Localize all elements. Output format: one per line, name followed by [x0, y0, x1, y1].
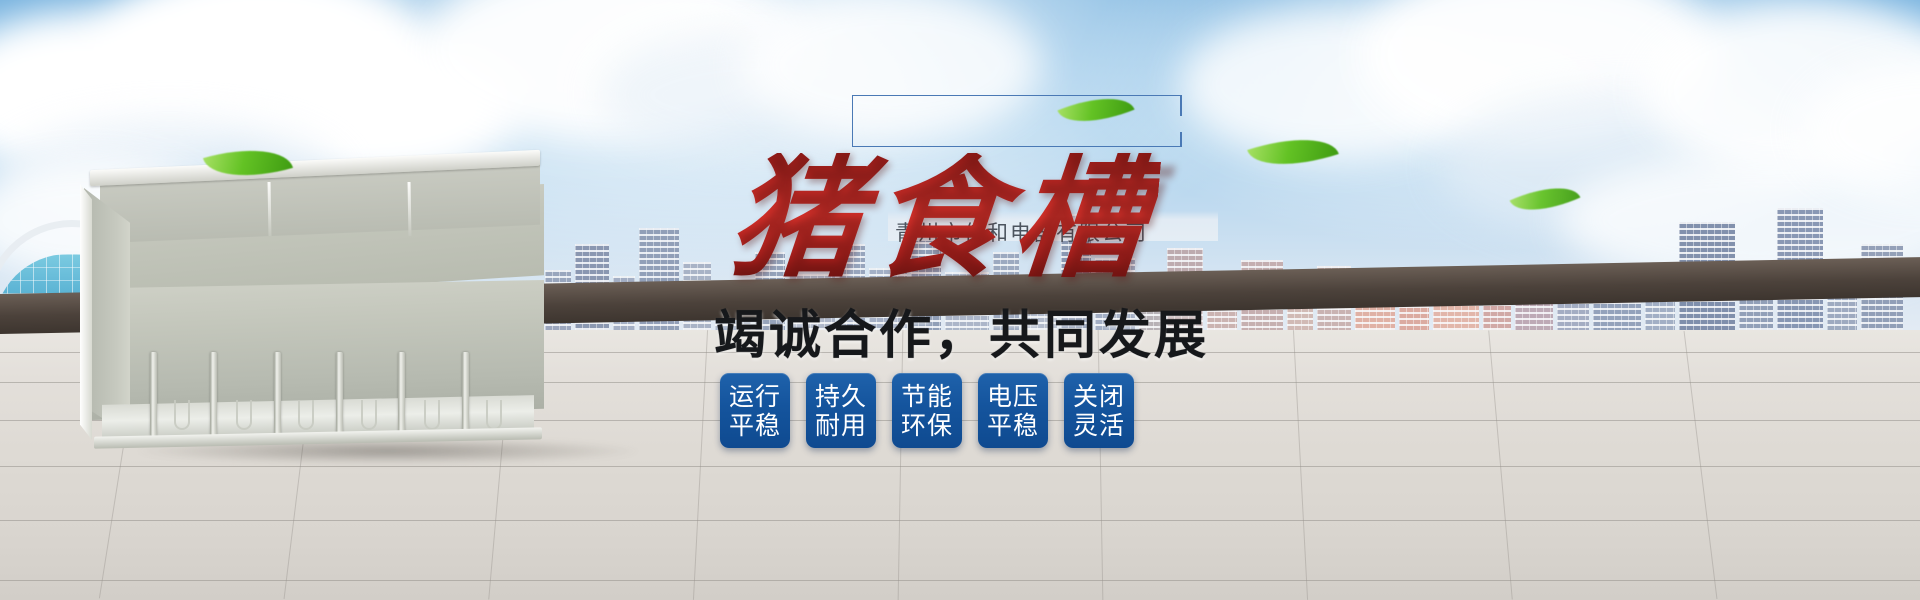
- trough-u-bar: [174, 400, 190, 430]
- feature-badge-line1: 关闭: [1073, 382, 1125, 411]
- feature-badge-line1: 电压: [987, 382, 1039, 411]
- feature-badge-line2: 环保: [901, 411, 953, 440]
- banner-text-content: 青州市佳和电器有限公司 猪食槽 竭诚合作，共同发展 运行 平稳 持久 耐用 节能…: [700, 95, 1340, 147]
- promotional-banner: 青州市佳和电器有限公司 猪食槽 竭诚合作，共同发展 运行 平稳 持久 耐用 节能…: [0, 0, 1920, 600]
- page-title: 猪食槽: [724, 153, 1162, 285]
- feature-badge-line2: 灵活: [1073, 411, 1125, 440]
- feature-badge[interactable]: 运行 平稳: [720, 373, 790, 448]
- trough-divider: [398, 352, 405, 436]
- feature-badge-line1: 运行: [729, 382, 781, 411]
- feature-badge-line2: 平稳: [987, 411, 1039, 440]
- feature-badge[interactable]: 节能 环保: [892, 373, 962, 448]
- product-pig-feeder-trough: [78, 160, 548, 460]
- trough-u-bar: [298, 400, 314, 430]
- banner-subtitle: 竭诚合作，共同发展: [714, 293, 1209, 368]
- company-name-frame: [852, 95, 1182, 147]
- trough-left-edge: [80, 184, 92, 440]
- trough-u-bar: [486, 400, 502, 430]
- feature-badge[interactable]: 持久 耐用: [806, 373, 876, 448]
- trough-divider: [462, 352, 469, 436]
- trough-divider: [274, 352, 281, 436]
- trough-divider: [210, 352, 217, 436]
- feature-badge-line1: 节能: [901, 382, 953, 411]
- feature-badge[interactable]: 关闭 灵活: [1064, 373, 1134, 448]
- feature-badge-line1: 持久: [815, 382, 867, 411]
- trough-divider: [336, 352, 343, 436]
- feature-badge[interactable]: 电压 平稳: [978, 373, 1048, 448]
- trough-u-bar: [424, 400, 440, 430]
- trough-u-bar: [361, 400, 377, 430]
- trough-u-bar: [236, 400, 252, 430]
- feature-badge-line2: 耐用: [815, 411, 867, 440]
- trough-divider: [150, 352, 157, 436]
- feature-badge-line2: 平稳: [729, 411, 781, 440]
- feature-badge-list: 运行 平稳 持久 耐用 节能 环保 电压 平稳 关闭 灵活: [720, 373, 1134, 448]
